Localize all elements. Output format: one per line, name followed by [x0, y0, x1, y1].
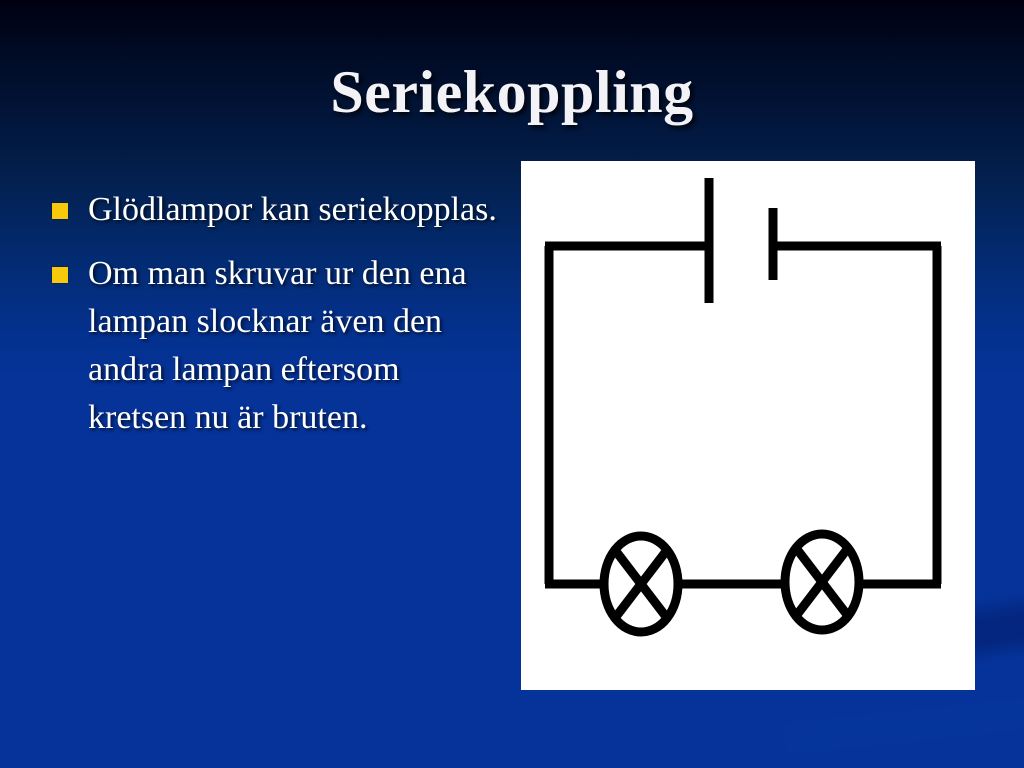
circuit-diagram-panel [521, 161, 975, 690]
bullet-text: Om man skruvar ur den ena lampan slockna… [88, 250, 502, 442]
battery-symbol [709, 178, 773, 303]
square-bullet-icon [52, 267, 68, 283]
list-item: Glödlampor kan seriekopplas. [52, 186, 502, 234]
bullet-text: Glödlampor kan seriekopplas. [88, 186, 502, 234]
square-bullet-icon [52, 203, 68, 219]
series-circuit-diagram [521, 161, 975, 690]
slide-title: Seriekoppling [0, 56, 1024, 128]
decorative-swoosh-secondary [784, 688, 1024, 759]
lamp-symbol-1 [604, 536, 678, 632]
bullet-list: Glödlampor kan seriekopplas. Om man skru… [52, 186, 502, 458]
slide: Seriekoppling Glödlampor kan seriekoppla… [0, 0, 1024, 768]
lamp-symbol-2 [785, 534, 859, 630]
list-item: Om man skruvar ur den ena lampan slockna… [52, 250, 502, 442]
